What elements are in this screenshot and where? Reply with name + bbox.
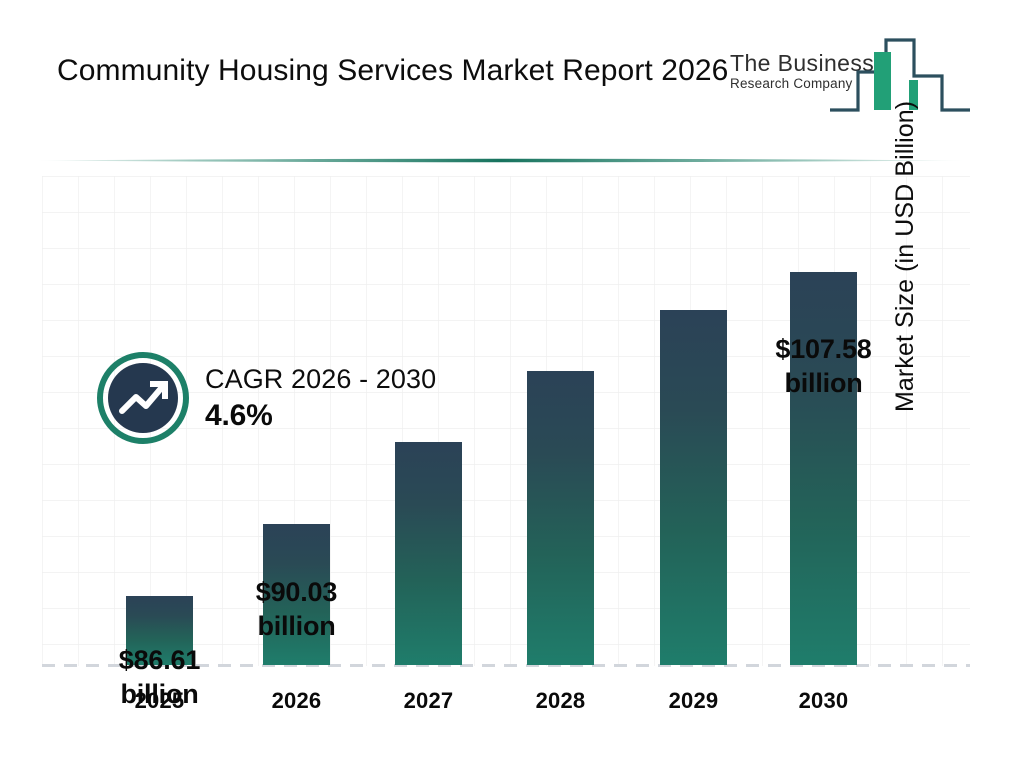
cagr-text-block: CAGR 2026 - 2030 4.6% [205,361,436,435]
bars-layer: $86.61billion2025$90.03billion2026202720… [0,150,1024,768]
cagr-period-label: CAGR 2026 - 2030 [205,361,436,397]
x-axis-label-2025: 2025 [100,688,220,714]
bar-2028 [527,371,594,665]
company-logo: The Business Research Company [730,32,980,132]
chart-container: $86.61billion2025$90.03billion2026202720… [0,150,1024,768]
x-axis-label-2027: 2027 [369,688,489,714]
value-label-unit: billion [744,366,904,400]
trending-up-arrow-icon [97,352,189,444]
bar-2030 [790,272,857,665]
value-label-2026: $90.03billion [217,575,377,643]
page-title: Community Housing Services Market Report… [57,50,737,92]
value-label-amount: $86.61 [80,643,240,677]
cagr-badge: CAGR 2026 - 2030 4.6% [97,352,517,448]
value-label-2030: $107.58billion [744,332,904,400]
value-label-unit: billion [217,609,377,643]
x-axis-label-2028: 2028 [501,688,621,714]
y-axis-title: Market Size (in USD Billion) [891,12,920,412]
value-label-amount: $107.58 [744,332,904,366]
cagr-value: 4.6% [205,397,436,435]
bar-2027 [395,442,462,665]
x-axis-label-2030: 2030 [764,688,884,714]
bar-2029 [660,310,727,665]
chart-page: Community Housing Services Market Report… [0,0,1024,768]
value-label-amount: $90.03 [217,575,377,609]
page-header: Community Housing Services Market Report… [0,0,1024,150]
x-axis-label-2026: 2026 [237,688,357,714]
x-axis-label-2029: 2029 [634,688,754,714]
